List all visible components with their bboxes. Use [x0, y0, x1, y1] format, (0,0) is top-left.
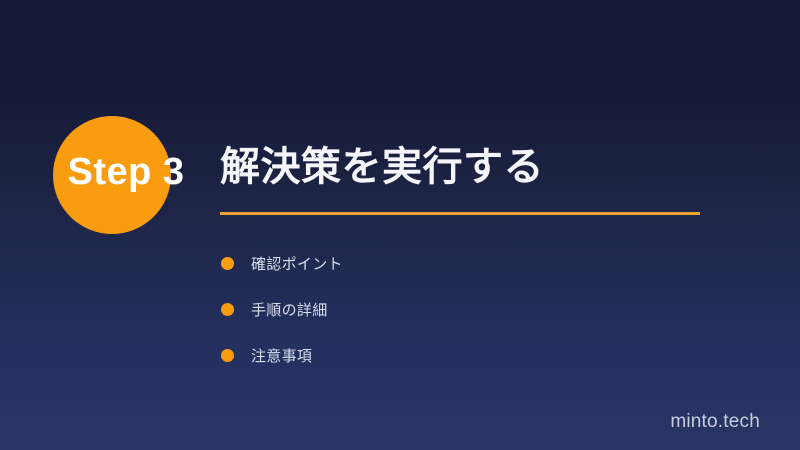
- bullet-dot-icon: [221, 303, 234, 316]
- step-number-label: Step 3: [46, 153, 206, 191]
- slide-title: 解決策を実行する: [220, 144, 544, 190]
- footer-brand-label: minto.tech: [670, 411, 760, 433]
- bullet-item-label: 手順の詳細: [251, 299, 328, 320]
- bullet-item-label: 注意事項: [251, 345, 312, 366]
- list-item: 確認ポイント: [221, 240, 343, 286]
- bullet-list: 確認ポイント 手順の詳細 注意事項: [221, 240, 343, 378]
- bullet-dot-icon: [221, 257, 234, 270]
- bullet-dot-icon: [221, 349, 234, 362]
- title-divider: [220, 212, 700, 215]
- list-item: 注意事項: [221, 332, 343, 378]
- presentation-slide: Step 3 解決策を実行する 確認ポイント 手順の詳細 注意事項 minto.…: [0, 0, 800, 450]
- list-item: 手順の詳細: [221, 286, 343, 332]
- bullet-item-label: 確認ポイント: [251, 253, 343, 274]
